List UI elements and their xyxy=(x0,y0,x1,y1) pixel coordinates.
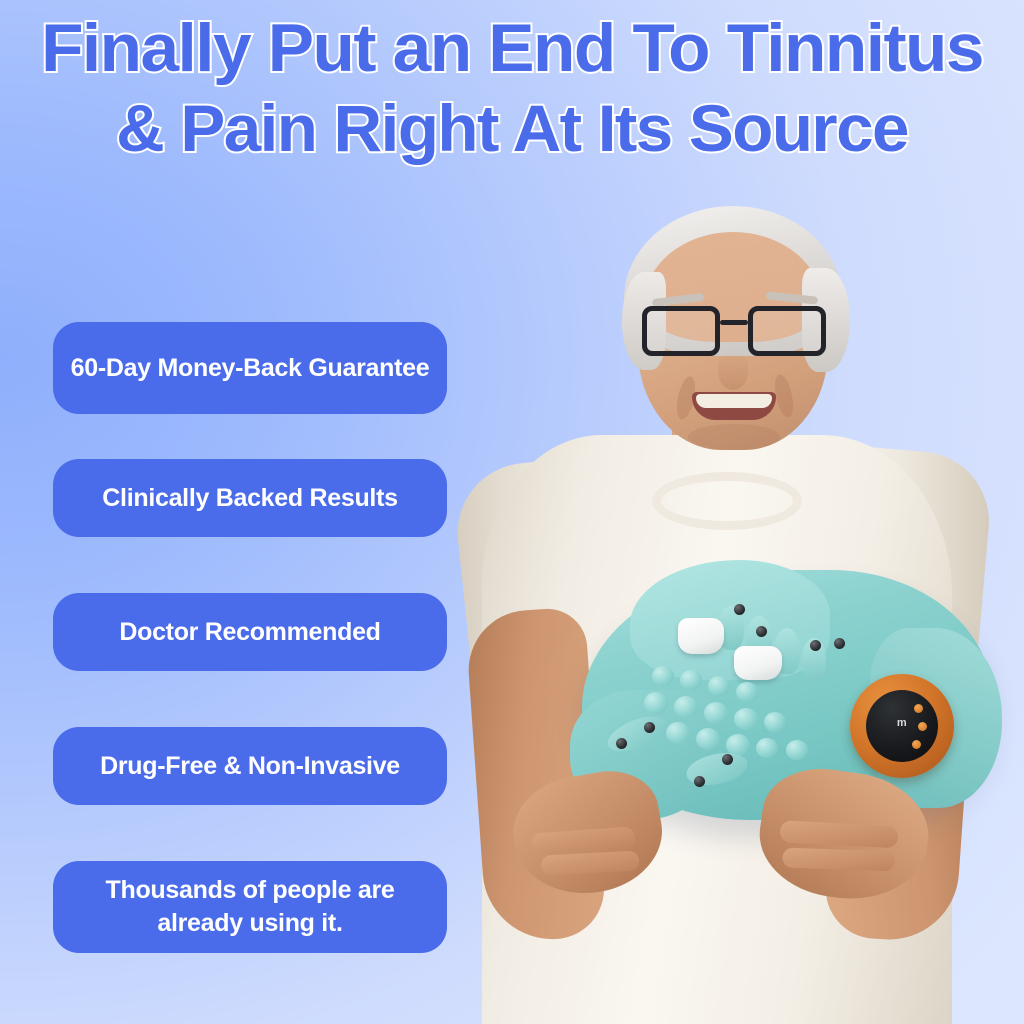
shirt-collar xyxy=(652,472,802,530)
magnet-dot xyxy=(834,638,845,649)
benefit-pill-list: 60-Day Money-Back Guarantee Clinically B… xyxy=(53,322,447,953)
lens-left xyxy=(642,306,720,356)
finger xyxy=(541,851,640,876)
magnet-dot xyxy=(694,776,705,787)
eyeglasses-icon xyxy=(636,306,834,358)
lens-right xyxy=(748,306,826,356)
magnet-dot xyxy=(616,738,627,749)
acupressure-nub xyxy=(652,666,674,686)
traction-pad-right xyxy=(734,646,782,680)
acupressure-nub xyxy=(644,692,668,714)
finger xyxy=(782,848,895,872)
acupressure-nub xyxy=(786,740,808,760)
magnet-dot xyxy=(810,640,821,651)
benefit-pill-drug-free[interactable]: Drug-Free & Non-Invasive xyxy=(53,727,447,805)
headline-line-1: Finally Put an End To Tinnitus xyxy=(0,8,1024,88)
acupressure-nub xyxy=(736,682,758,702)
benefit-pill-social-proof[interactable]: Thousands of people are already using it… xyxy=(53,861,447,953)
chin xyxy=(688,424,780,450)
brand-logo: m xyxy=(866,717,938,729)
module-indicator-bottom[interactable] xyxy=(912,740,921,749)
magnet-dot xyxy=(722,754,733,765)
magnet-dot xyxy=(644,722,655,733)
page-title: Finally Put an End To Tinnitus & Pain Ri… xyxy=(0,8,1024,168)
control-module[interactable]: m xyxy=(850,674,954,778)
acupressure-nub xyxy=(674,696,698,718)
hero-photo: m xyxy=(430,180,1024,1024)
acupressure-nub xyxy=(734,708,758,730)
magnet-dot xyxy=(756,626,767,637)
acupressure-nub xyxy=(696,728,720,750)
acupressure-nub xyxy=(764,712,786,732)
module-indicator-middle[interactable] xyxy=(918,722,927,731)
acupressure-nub xyxy=(666,722,690,744)
control-module-face: m xyxy=(866,690,938,762)
acupressure-nub xyxy=(756,738,778,758)
benefit-pill-money-back[interactable]: 60-Day Money-Back Guarantee xyxy=(53,322,447,414)
advertisement-canvas: Finally Put an End To Tinnitus & Pain Ri… xyxy=(0,0,1024,1024)
acupressure-nub xyxy=(680,670,702,690)
glasses-bridge xyxy=(720,320,748,325)
magnet-dot xyxy=(734,604,745,615)
traction-pad-left xyxy=(678,618,724,654)
teeth xyxy=(696,394,772,408)
acupressure-nub xyxy=(708,676,730,696)
benefit-pill-clinical[interactable]: Clinically Backed Results xyxy=(53,459,447,537)
module-indicator-top[interactable] xyxy=(914,704,923,713)
acupressure-nub xyxy=(704,702,728,724)
benefit-pill-doctor[interactable]: Doctor Recommended xyxy=(53,593,447,671)
finger xyxy=(780,820,899,848)
smiling-mouth xyxy=(692,392,776,420)
headline-line-2: & Pain Right At Its Source xyxy=(0,88,1024,168)
